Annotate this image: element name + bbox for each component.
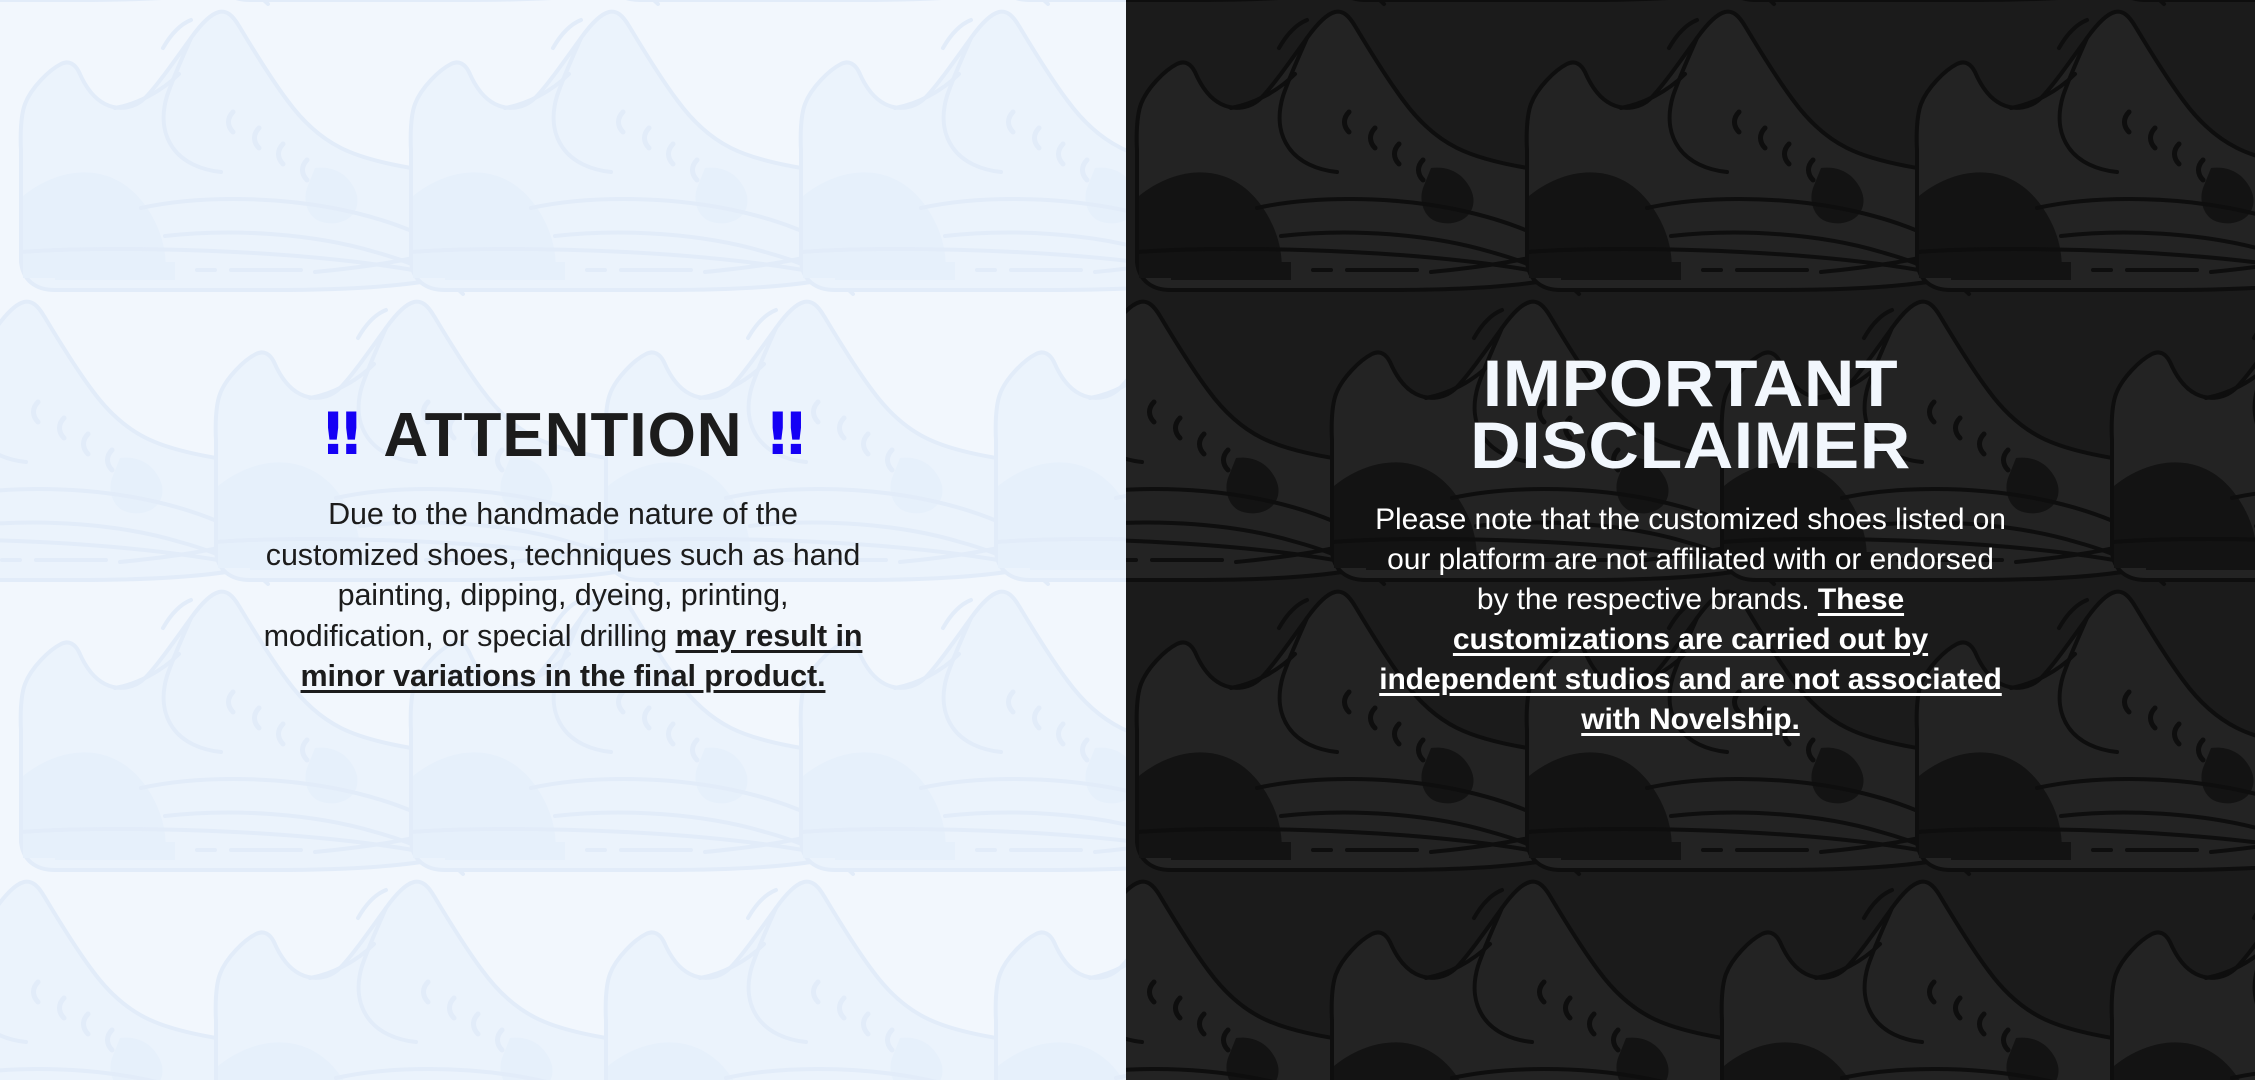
disclaimer-panel: IMPORTANT DISCLAIMER Please note that th… — [1126, 0, 2255, 1080]
double-exclamation-icon-right: ‼ — [769, 405, 802, 463]
two-panel-notice-banner: ‼ ATTENTION ‼ Due to the handmade nature… — [0, 0, 2255, 1080]
attention-heading: ‼ ATTENTION ‼ — [80, 403, 1046, 468]
disclaimer-body: Please note that the customized shoes li… — [1371, 500, 2011, 739]
attention-content: ‼ ATTENTION ‼ Due to the handmade nature… — [0, 403, 1126, 697]
disclaimer-body-normal: Please note that the customized shoes li… — [1375, 503, 2006, 616]
disclaimer-heading-line2: DISCLAIMER — [1177, 414, 2204, 476]
double-exclamation-icon-left: ‼ — [324, 405, 357, 463]
disclaimer-heading: IMPORTANT DISCLAIMER — [1177, 352, 2204, 476]
attention-panel: ‼ ATTENTION ‼ Due to the handmade nature… — [0, 0, 1126, 1080]
disclaimer-heading-line1: IMPORTANT — [1177, 352, 2204, 414]
disclaimer-content: IMPORTANT DISCLAIMER Please note that th… — [1126, 352, 2255, 739]
attention-body: Due to the handmade nature of the custom… — [253, 494, 873, 697]
attention-heading-text: ATTENTION — [383, 403, 742, 468]
